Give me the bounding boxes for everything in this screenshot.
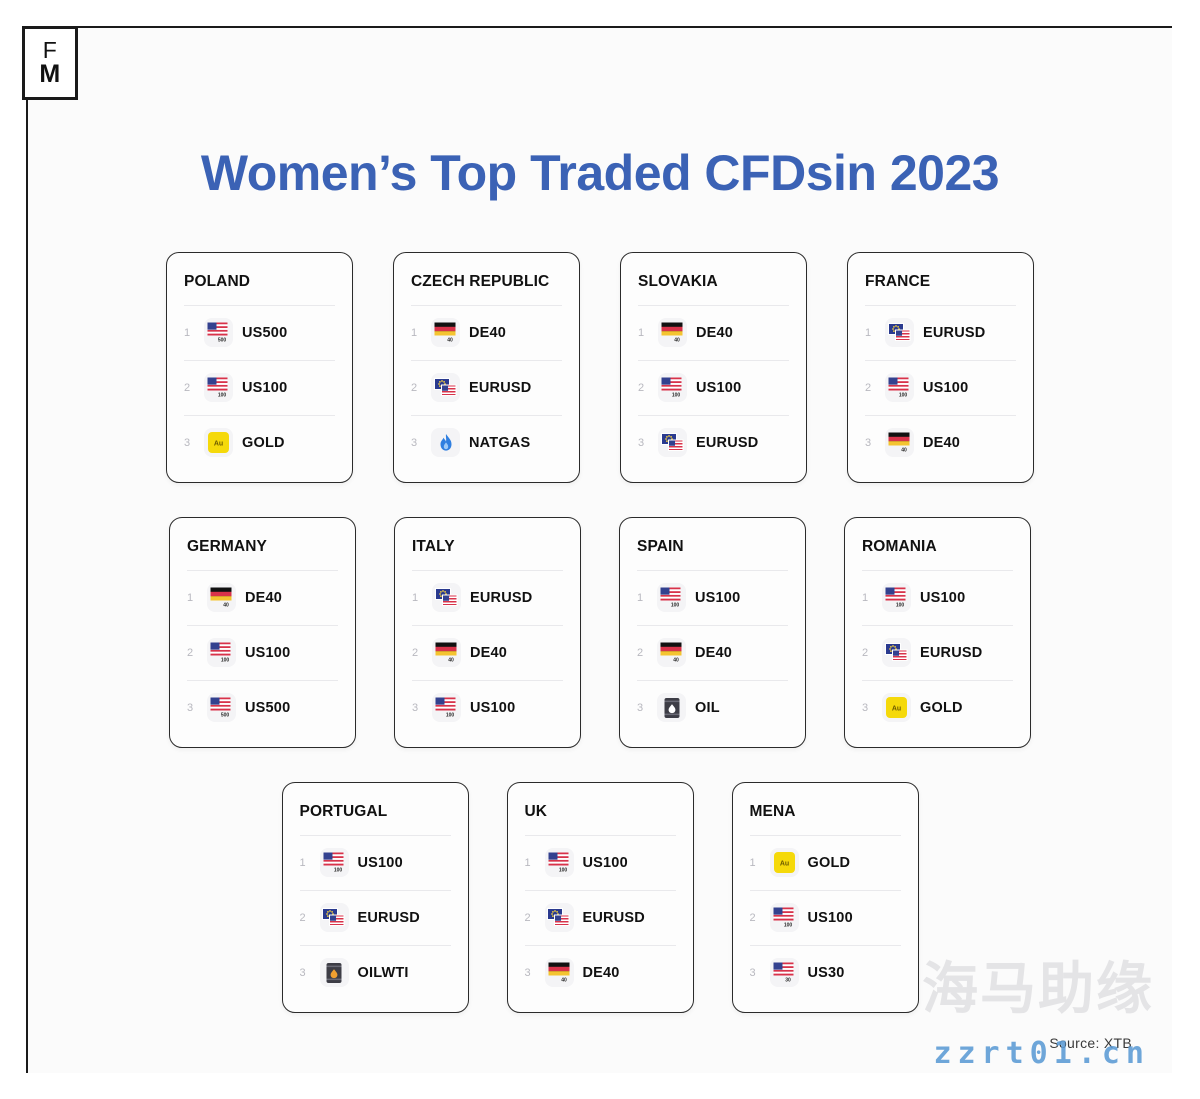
asset-rank: 1 bbox=[187, 592, 198, 604]
asset-rank: 2 bbox=[862, 647, 873, 659]
svg-text:100: 100 bbox=[672, 393, 681, 399]
asset-row: 3OIL bbox=[637, 681, 788, 735]
asset-label: NATGAS bbox=[469, 435, 530, 451]
country-card: MENA1AuGOLD2100US100330US30 bbox=[732, 782, 919, 1013]
asset-label: DE40 bbox=[245, 590, 282, 606]
oilwti-barrel-icon bbox=[320, 958, 349, 987]
asset-row: 3NATGAS bbox=[411, 416, 562, 470]
country-card: CZECH REPUBLIC140DE402EURUSD3NATGAS bbox=[393, 252, 580, 483]
asset-rank: 3 bbox=[300, 967, 311, 979]
asset-label: EURUSD bbox=[470, 590, 532, 606]
country-card-title: POLAND bbox=[184, 273, 335, 291]
gold-au-icon: Au bbox=[882, 693, 911, 722]
asset-row: 140DE40 bbox=[638, 306, 789, 360]
asset-row: 1100US100 bbox=[862, 571, 1013, 625]
asset-row: 3EURUSD bbox=[638, 416, 789, 470]
asset-rank: 1 bbox=[184, 327, 195, 339]
de-flag-40-icon: 40 bbox=[885, 428, 914, 457]
us-flag-100-icon: 100 bbox=[432, 693, 461, 722]
us-flag-100-icon: 100 bbox=[885, 373, 914, 402]
asset-row: 1100US100 bbox=[637, 571, 788, 625]
asset-rank: 3 bbox=[862, 702, 873, 714]
de-flag-40-icon: 40 bbox=[658, 318, 687, 347]
asset-rank: 1 bbox=[300, 857, 311, 869]
asset-label: US100 bbox=[920, 590, 965, 606]
svg-text:Au: Au bbox=[779, 861, 788, 868]
eu-us-flags-icon bbox=[431, 373, 460, 402]
natgas-flame-icon bbox=[431, 428, 460, 457]
country-card: ROMANIA1100US1002EURUSD3AuGOLD bbox=[844, 517, 1031, 748]
country-card: UK1100US1002EURUSD340DE40 bbox=[507, 782, 694, 1013]
svg-text:40: 40 bbox=[561, 978, 567, 984]
svg-text:40: 40 bbox=[447, 338, 453, 344]
us-flag-100-icon: 100 bbox=[658, 373, 687, 402]
asset-row: 340DE40 bbox=[865, 416, 1016, 470]
asset-row: 3OILWTI bbox=[300, 946, 451, 1000]
asset-rank: 3 bbox=[187, 702, 198, 714]
asset-rank: 3 bbox=[412, 702, 423, 714]
asset-rank: 2 bbox=[184, 382, 195, 394]
asset-rank: 2 bbox=[411, 382, 422, 394]
asset-row: 240DE40 bbox=[637, 626, 788, 680]
asset-label: EURUSD bbox=[358, 910, 420, 926]
eu-us-flags-icon bbox=[885, 318, 914, 347]
us-flag-100-icon: 100 bbox=[320, 848, 349, 877]
gold-au-icon: Au bbox=[204, 428, 233, 457]
asset-rank: 2 bbox=[412, 647, 423, 659]
asset-label: DE40 bbox=[695, 645, 732, 661]
eu-us-flags-icon bbox=[658, 428, 687, 457]
asset-rank: 3 bbox=[865, 437, 876, 449]
asset-label: US100 bbox=[695, 590, 740, 606]
svg-text:40: 40 bbox=[673, 658, 679, 664]
asset-row: 1500US500 bbox=[184, 306, 335, 360]
country-card: SLOVAKIA140DE402100US1003EURUSD bbox=[620, 252, 807, 483]
country-card-title: GERMANY bbox=[187, 538, 338, 556]
asset-label: GOLD bbox=[242, 435, 285, 451]
country-card: GERMANY140DE402100US1003500US500 bbox=[169, 517, 356, 748]
asset-row: 1AuGOLD bbox=[750, 836, 901, 890]
asset-label: US100 bbox=[808, 910, 853, 926]
asset-label: US30 bbox=[808, 965, 845, 981]
svg-text:100: 100 bbox=[671, 603, 680, 609]
us-flag-500-icon: 500 bbox=[204, 318, 233, 347]
de-flag-40-icon: 40 bbox=[431, 318, 460, 347]
asset-row: 330US30 bbox=[750, 946, 901, 1000]
svg-text:40: 40 bbox=[223, 603, 229, 609]
asset-rank: 1 bbox=[750, 857, 761, 869]
svg-text:100: 100 bbox=[899, 393, 908, 399]
country-card-title: MENA bbox=[750, 803, 901, 821]
country-card: SPAIN1100US100240DE403OIL bbox=[619, 517, 806, 748]
asset-label: US100 bbox=[696, 380, 741, 396]
svg-text:Au: Au bbox=[892, 706, 901, 713]
country-card: POLAND1500US5002100US1003AuGOLD bbox=[166, 252, 353, 483]
asset-rank: 2 bbox=[638, 382, 649, 394]
asset-row: 240DE40 bbox=[412, 626, 563, 680]
asset-row: 2EURUSD bbox=[862, 626, 1013, 680]
asset-row: 2100US100 bbox=[865, 361, 1016, 415]
us-flag-500-icon: 500 bbox=[207, 693, 236, 722]
svg-text:500: 500 bbox=[221, 713, 230, 719]
asset-label: GOLD bbox=[920, 700, 963, 716]
asset-rank: 3 bbox=[638, 437, 649, 449]
eu-us-flags-icon bbox=[882, 638, 911, 667]
asset-row: 2100US100 bbox=[750, 891, 901, 945]
asset-row: 3AuGOLD bbox=[862, 681, 1013, 735]
asset-label: US100 bbox=[583, 855, 628, 871]
country-card-title: CZECH REPUBLIC bbox=[411, 273, 562, 291]
asset-label: US100 bbox=[245, 645, 290, 661]
gold-au-icon: Au bbox=[770, 848, 799, 877]
country-card-title: PORTUGAL bbox=[300, 803, 451, 821]
asset-row: 3100US100 bbox=[412, 681, 563, 735]
asset-rank: 1 bbox=[412, 592, 423, 604]
svg-text:40: 40 bbox=[448, 658, 454, 664]
asset-row: 3500US500 bbox=[187, 681, 338, 735]
country-card-title: ROMANIA bbox=[862, 538, 1013, 556]
asset-row: 1EURUSD bbox=[865, 306, 1016, 360]
logo-letter-m: M bbox=[39, 62, 60, 87]
us-flag-100-icon: 100 bbox=[204, 373, 233, 402]
asset-row: 140DE40 bbox=[187, 571, 338, 625]
svg-text:100: 100 bbox=[221, 658, 230, 664]
asset-label: OILWTI bbox=[358, 965, 409, 981]
asset-label: US100 bbox=[923, 380, 968, 396]
asset-label: US500 bbox=[245, 700, 290, 716]
eu-us-flags-icon bbox=[545, 903, 574, 932]
asset-rank: 1 bbox=[525, 857, 536, 869]
svg-text:100: 100 bbox=[896, 603, 905, 609]
asset-rank: 3 bbox=[184, 437, 195, 449]
asset-rank: 2 bbox=[300, 912, 311, 924]
asset-label: DE40 bbox=[923, 435, 960, 451]
country-card-title: SPAIN bbox=[637, 538, 788, 556]
svg-text:100: 100 bbox=[783, 923, 792, 929]
asset-row: 1EURUSD bbox=[412, 571, 563, 625]
asset-rank: 3 bbox=[411, 437, 422, 449]
svg-text:40: 40 bbox=[674, 338, 680, 344]
de-flag-40-icon: 40 bbox=[545, 958, 574, 987]
asset-label: EURUSD bbox=[923, 325, 985, 341]
asset-label: DE40 bbox=[696, 325, 733, 341]
country-card-title: FRANCE bbox=[865, 273, 1016, 291]
svg-text:30: 30 bbox=[785, 978, 791, 984]
asset-row: 340DE40 bbox=[525, 946, 676, 1000]
eu-us-flags-icon bbox=[432, 583, 461, 612]
svg-text:40: 40 bbox=[901, 448, 907, 454]
asset-label: EURUSD bbox=[583, 910, 645, 926]
de-flag-40-icon: 40 bbox=[207, 583, 236, 612]
svg-text:100: 100 bbox=[558, 868, 567, 874]
asset-row: 2100US100 bbox=[187, 626, 338, 680]
infographic-canvas: Women’s Top Traded CFDsin 2023 POLAND150… bbox=[28, 28, 1172, 1073]
asset-label: DE40 bbox=[469, 325, 506, 341]
asset-rank: 1 bbox=[638, 327, 649, 339]
page-title: Women’s Top Traded CFDsin 2023 bbox=[28, 144, 1172, 202]
asset-rank: 1 bbox=[865, 327, 876, 339]
asset-rank: 1 bbox=[862, 592, 873, 604]
asset-label: EURUSD bbox=[696, 435, 758, 451]
asset-rank: 3 bbox=[750, 967, 761, 979]
asset-label: EURUSD bbox=[920, 645, 982, 661]
asset-rank: 2 bbox=[525, 912, 536, 924]
asset-row: 2EURUSD bbox=[300, 891, 451, 945]
svg-text:100: 100 bbox=[446, 713, 455, 719]
card-row-1: POLAND1500US5002100US1003AuGOLDCZECH REP… bbox=[28, 252, 1172, 483]
country-card: ITALY1EURUSD240DE403100US100 bbox=[394, 517, 581, 748]
country-card: PORTUGAL1100US1002EURUSD3OILWTI bbox=[282, 782, 469, 1013]
asset-rank: 3 bbox=[525, 967, 536, 979]
svg-text:Au: Au bbox=[214, 441, 223, 448]
logo-letter-f: F bbox=[43, 39, 58, 62]
us-flag-100-icon: 100 bbox=[657, 583, 686, 612]
asset-label: GOLD bbox=[808, 855, 851, 871]
de-flag-40-icon: 40 bbox=[432, 638, 461, 667]
asset-rank: 2 bbox=[865, 382, 876, 394]
asset-row: 2EURUSD bbox=[525, 891, 676, 945]
us-flag-100-icon: 100 bbox=[207, 638, 236, 667]
svg-text:100: 100 bbox=[218, 393, 227, 399]
asset-row: 1100US100 bbox=[300, 836, 451, 890]
us-flag-30-icon: 30 bbox=[770, 958, 799, 987]
country-card-title: UK bbox=[525, 803, 676, 821]
svg-text:500: 500 bbox=[218, 338, 227, 344]
asset-label: US500 bbox=[242, 325, 287, 341]
asset-label: OIL bbox=[695, 700, 720, 716]
oil-barrel-icon bbox=[657, 693, 686, 722]
asset-label: DE40 bbox=[470, 645, 507, 661]
us-flag-100-icon: 100 bbox=[545, 848, 574, 877]
country-card-title: ITALY bbox=[412, 538, 563, 556]
country-card: FRANCE1EURUSD2100US100340DE40 bbox=[847, 252, 1034, 483]
asset-row: 1100US100 bbox=[525, 836, 676, 890]
us-flag-100-icon: 100 bbox=[882, 583, 911, 612]
asset-rank: 1 bbox=[411, 327, 422, 339]
eu-us-flags-icon bbox=[320, 903, 349, 932]
card-row-2: GERMANY140DE402100US1003500US500ITALY1EU… bbox=[28, 517, 1172, 748]
asset-label: US100 bbox=[242, 380, 287, 396]
asset-label: EURUSD bbox=[469, 380, 531, 396]
asset-label: US100 bbox=[470, 700, 515, 716]
asset-label: US100 bbox=[358, 855, 403, 871]
logo-badge: F M bbox=[22, 26, 78, 100]
asset-label: DE40 bbox=[583, 965, 620, 981]
asset-rank: 2 bbox=[187, 647, 198, 659]
asset-row: 140DE40 bbox=[411, 306, 562, 360]
country-card-title: SLOVAKIA bbox=[638, 273, 789, 291]
asset-rank: 1 bbox=[637, 592, 648, 604]
svg-text:100: 100 bbox=[333, 868, 342, 874]
us-flag-100-icon: 100 bbox=[770, 903, 799, 932]
de-flag-40-icon: 40 bbox=[657, 638, 686, 667]
source-note: Source: XTB bbox=[1049, 1035, 1132, 1051]
asset-rank: 2 bbox=[637, 647, 648, 659]
asset-row: 2100US100 bbox=[184, 361, 335, 415]
asset-rank: 3 bbox=[637, 702, 648, 714]
asset-row: 3AuGOLD bbox=[184, 416, 335, 470]
asset-rank: 2 bbox=[750, 912, 761, 924]
card-row-3: PORTUGAL1100US1002EURUSD3OILWTIUK1100US1… bbox=[28, 782, 1172, 1013]
asset-row: 2EURUSD bbox=[411, 361, 562, 415]
asset-row: 2100US100 bbox=[638, 361, 789, 415]
